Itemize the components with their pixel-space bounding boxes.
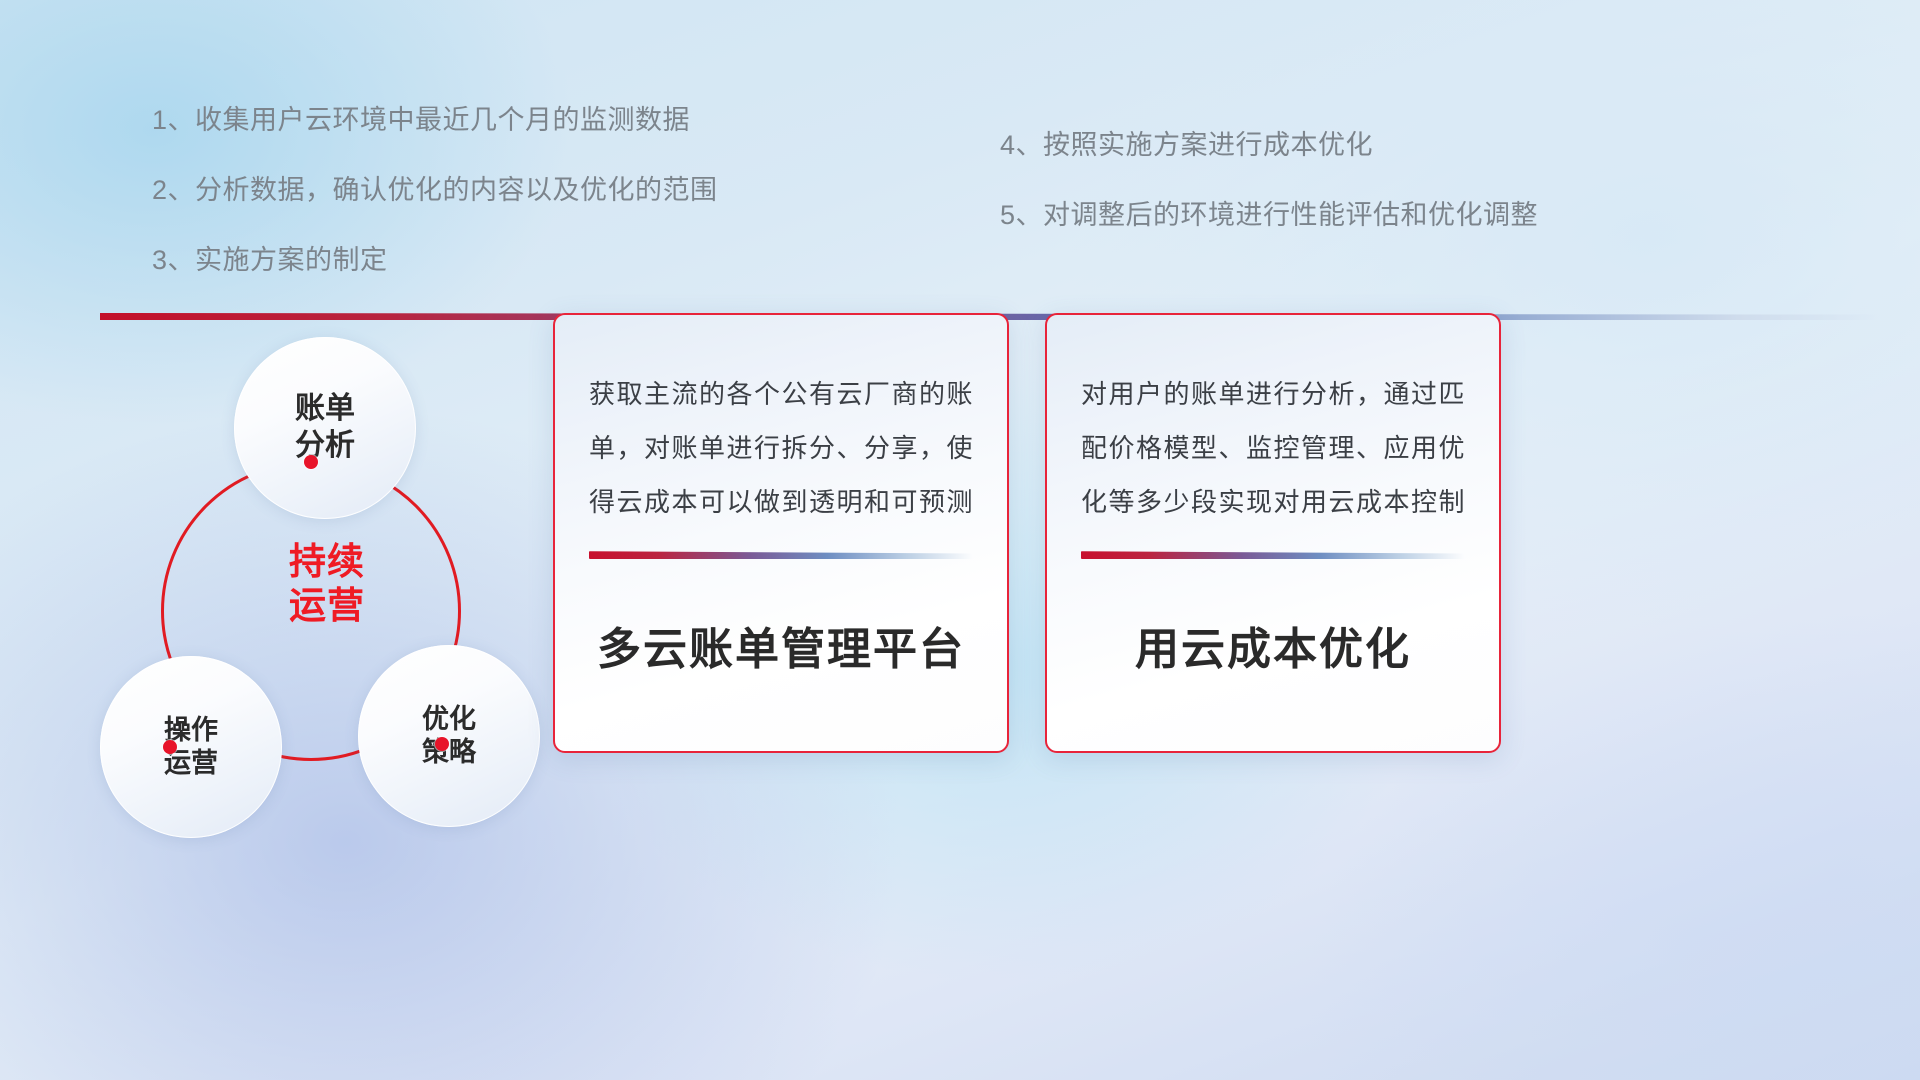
venn-circle-bill-analysis-label: 账单分析	[295, 391, 355, 464]
card-multicloud-billing-platform[interactable]: 获取主流的各个公有云厂商的账单，对账单进行拆分、分享，使得云成本可以做到透明和可…	[553, 313, 1009, 753]
venn-circle-optimization-strategy-label: 优化策略	[422, 703, 476, 769]
venn-center-label: 持续运营	[252, 540, 402, 627]
card-title: 用云成本优化	[1081, 613, 1465, 677]
venn-circle-operations[interactable]: 操作运营	[100, 656, 282, 838]
steps-left-column: 1、收集用户云环境中最近几个月的监测数据 2、分析数据，确认优化的内容以及优化的…	[152, 98, 718, 308]
card-body-text: 获取主流的各个公有云厂商的账单，对账单进行拆分、分享，使得云成本可以做到透明和可…	[589, 367, 973, 529]
card-cloud-cost-optimization[interactable]: 对用户的账单进行分析，通过匹配价格模型、监控管理、应用优化等多少段实现对用云成本…	[1045, 313, 1501, 753]
venn-node-dot-left	[163, 740, 177, 754]
card-title: 多云账单管理平台	[589, 613, 973, 677]
venn-circle-optimization-strategy[interactable]: 优化策略	[358, 645, 540, 827]
steps-right-column: 4、按照实施方案进行成本优化 5、对调整后的环境进行性能评估和优化调整	[1000, 123, 1538, 263]
card-divider-rule	[589, 551, 973, 559]
step-item-4: 4、按照实施方案进行成本优化	[1000, 123, 1538, 162]
continuous-operation-venn-diagram: 账单分析 操作运营 优化策略 持续运营	[100, 345, 620, 955]
venn-node-dot-top	[304, 455, 318, 469]
venn-circle-bill-analysis[interactable]: 账单分析	[234, 337, 416, 519]
step-item-3: 3、实施方案的制定	[152, 238, 718, 277]
venn-node-dot-right	[435, 737, 449, 751]
step-item-2: 2、分析数据，确认优化的内容以及优化的范围	[152, 168, 718, 207]
card-body-text: 对用户的账单进行分析，通过匹配价格模型、监控管理、应用优化等多少段实现对用云成本…	[1081, 367, 1465, 529]
step-item-5: 5、对调整后的环境进行性能评估和优化调整	[1000, 193, 1538, 232]
card-divider-rule	[1081, 551, 1465, 559]
step-item-1: 1、收集用户云环境中最近几个月的监测数据	[152, 98, 718, 137]
